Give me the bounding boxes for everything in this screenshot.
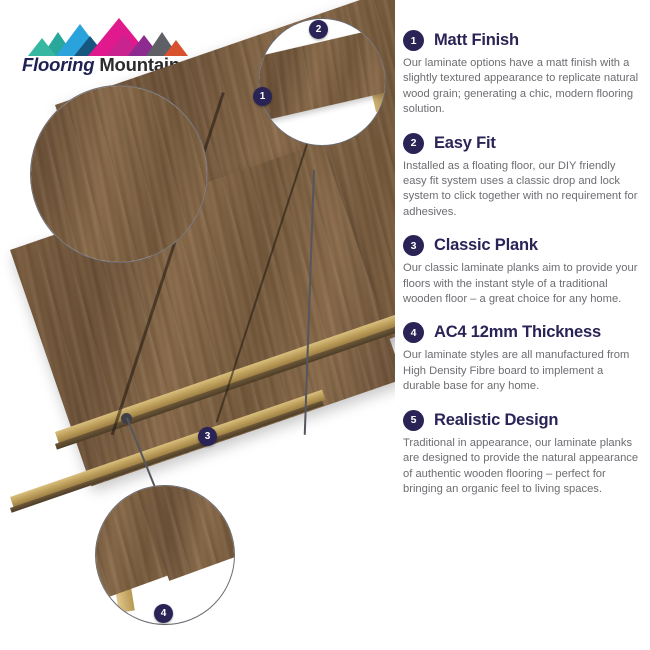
feature-title: AC4 12mm Thickness <box>434 323 601 342</box>
magnifier-surface-grain <box>30 85 208 263</box>
feature-header: 3 Classic Plank <box>403 235 639 256</box>
magnified-wood-grain <box>30 85 208 263</box>
feature-list: 1 Matt Finish Our laminate options have … <box>403 30 639 512</box>
feature-item-matt-finish: 1 Matt Finish Our laminate options have … <box>403 30 639 118</box>
feature-description: Our laminate options have a matt finish … <box>403 56 639 118</box>
feature-description: Traditional in appearance, our laminate … <box>403 436 639 498</box>
feature-description: Our laminate styles are all manufactured… <box>403 348 639 394</box>
feature-item-easy-fit: 2 Easy Fit Installed as a floating floor… <box>403 133 639 221</box>
feature-title: Easy Fit <box>434 134 496 153</box>
feature-description: Our classic laminate planks aim to provi… <box>403 261 639 307</box>
feature-number-badge: 4 <box>403 322 424 343</box>
photo-marker-3[interactable]: 3 <box>198 427 217 446</box>
feature-title: Classic Plank <box>434 236 538 255</box>
feature-header: 4 AC4 12mm Thickness <box>403 322 639 343</box>
feature-header: 1 Matt Finish <box>403 30 639 51</box>
product-photo: 1 2 3 4 <box>0 0 395 650</box>
feature-number-badge: 3 <box>403 235 424 256</box>
feature-title: Matt Finish <box>434 31 519 50</box>
feature-item-ac4-12mm-thickness: 4 AC4 12mm Thickness Our laminate styles… <box>403 322 639 394</box>
photo-marker-4[interactable]: 4 <box>154 604 173 623</box>
feature-item-realistic-design: 5 Realistic Design Traditional in appear… <box>403 410 639 498</box>
magnified-plank-top <box>258 25 386 121</box>
feature-description: Installed as a floating floor, our DIY f… <box>403 159 639 221</box>
feature-item-classic-plank: 3 Classic Plank Our classic laminate pla… <box>403 235 639 307</box>
photo-marker-1[interactable]: 1 <box>253 87 272 106</box>
photo-marker-2[interactable]: 2 <box>309 20 328 39</box>
feature-number-badge: 5 <box>403 410 424 431</box>
infographic-page: Flooring Mountain <box>0 0 650 650</box>
feature-number-badge: 1 <box>403 30 424 51</box>
feature-title: Realistic Design <box>434 411 558 430</box>
feature-header: 2 Easy Fit <box>403 133 639 154</box>
feature-header: 5 Realistic Design <box>403 410 639 431</box>
feature-number-badge: 2 <box>403 133 424 154</box>
